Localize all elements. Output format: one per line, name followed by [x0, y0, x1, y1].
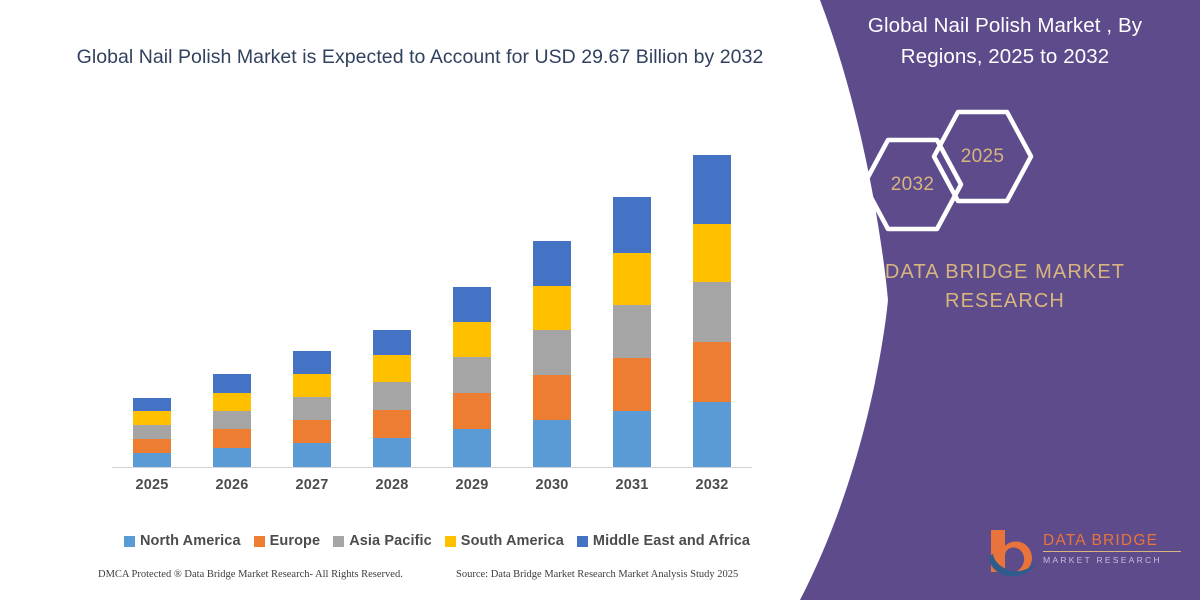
legend-swatch-icon: [124, 536, 135, 547]
x-axis-line: [112, 467, 752, 468]
panel-title: Global Nail Polish Market , By Regions, …: [840, 10, 1170, 72]
stacked-bar: [213, 374, 251, 467]
x-axis-label-2032: 2032: [672, 477, 752, 493]
legend-item-europe[interactable]: Europe: [254, 533, 321, 549]
bar-segment: [453, 429, 491, 467]
bar-segment: [213, 448, 251, 467]
bar-segment: [293, 443, 331, 467]
bar-segment: [213, 429, 251, 448]
bar-segment: [693, 402, 731, 467]
bar-group-2026: [192, 140, 272, 467]
legend-label: Europe: [270, 533, 321, 549]
stacked-bars: [112, 140, 752, 467]
logo-divider: [1043, 551, 1181, 552]
legend-swatch-icon: [577, 536, 588, 547]
bar-segment: [133, 425, 171, 439]
x-axis-label-2027: 2027: [272, 477, 352, 493]
bar-segment: [373, 410, 411, 438]
legend-item-south-america[interactable]: South America: [445, 533, 564, 549]
footer-copyright: DMCA Protected ® Data Bridge Market Rese…: [98, 569, 403, 580]
hexagon-2025-label: 2025: [930, 146, 1035, 168]
bar-segment: [693, 155, 731, 224]
bar-segment: [213, 374, 251, 393]
bar-segment: [533, 286, 571, 330]
x-axis-label-2030: 2030: [512, 477, 592, 493]
bar-segment: [133, 411, 171, 425]
bar-segment: [533, 420, 571, 467]
bar-group-2032: [672, 140, 752, 467]
bar-segment: [373, 330, 411, 355]
bar-segment: [453, 393, 491, 429]
legend-swatch-icon: [254, 536, 265, 547]
bar-segment: [133, 453, 171, 467]
x-axis-label-2031: 2031: [592, 477, 672, 493]
bar-segment: [533, 375, 571, 420]
bar-group-2025: [112, 140, 192, 467]
x-axis-label-2025: 2025: [112, 477, 192, 493]
bar-group-2031: [592, 140, 672, 467]
legend-swatch-icon: [445, 536, 456, 547]
legend-item-north-america[interactable]: North America: [124, 533, 241, 549]
legend-label: South America: [461, 533, 564, 549]
bar-group-2027: [272, 140, 352, 467]
x-axis-label-2028: 2028: [352, 477, 432, 493]
bar-segment: [133, 439, 171, 453]
bar-segment: [693, 224, 731, 282]
bar-group-2029: [432, 140, 512, 467]
chart-area: Global Nail Polish Market is Expected to…: [0, 0, 800, 600]
bar-segment: [453, 322, 491, 357]
infographic-canvas: Global Nail Polish Market is Expected to…: [0, 0, 1200, 600]
bar-segment: [613, 358, 651, 411]
data-bridge-logo: DATA BRIDGE MARKET RESEARCH: [985, 524, 1185, 580]
x-axis-label-2029: 2029: [432, 477, 512, 493]
bar-segment: [533, 241, 571, 286]
bar-segment: [613, 305, 651, 358]
bar-segment: [213, 393, 251, 411]
legend-item-asia-pacific[interactable]: Asia Pacific: [333, 533, 432, 549]
legend-label: North America: [140, 533, 241, 549]
bar-segment: [293, 374, 331, 397]
logo-text: DATA BRIDGE MARKET RESEARCH: [1043, 532, 1188, 565]
logo-title: DATA BRIDGE: [1043, 532, 1188, 549]
stacked-bar: [453, 287, 491, 467]
bar-group-2030: [512, 140, 592, 467]
hexagon-group: 2032 2025: [848, 108, 1168, 233]
logo-subtitle: MARKET RESEARCH: [1043, 555, 1188, 565]
chart-title: Global Nail Polish Market is Expected to…: [70, 42, 770, 73]
logo-mark-icon: [985, 526, 1041, 578]
bar-segment: [613, 411, 651, 467]
bar-segment: [453, 357, 491, 393]
stacked-bar: [533, 241, 571, 467]
x-axis-labels: 20252026202720282029203020312032: [112, 477, 752, 499]
stacked-bar: [293, 351, 331, 467]
bar-segment: [533, 330, 571, 375]
hexagon-2025: 2025: [930, 108, 1035, 210]
stacked-bar: [613, 197, 651, 467]
bar-segment: [293, 420, 331, 443]
bar-segment: [693, 282, 731, 342]
bar-group-2028: [352, 140, 432, 467]
legend-item-middle-east-and-africa[interactable]: Middle East and Africa: [577, 533, 750, 549]
footer: DMCA Protected ® Data Bridge Market Rese…: [98, 569, 778, 583]
bar-segment: [133, 398, 171, 411]
bar-segment: [453, 287, 491, 322]
bar-segment: [613, 197, 651, 253]
bar-segment: [373, 355, 411, 382]
bar-segment: [693, 342, 731, 402]
bar-segment: [373, 438, 411, 467]
legend-label: Middle East and Africa: [593, 533, 750, 549]
legend-swatch-icon: [333, 536, 344, 547]
x-axis-label-2026: 2026: [192, 477, 272, 493]
purple-panel-content: Global Nail Polish Market , By Regions, …: [800, 0, 1200, 600]
bar-segment: [293, 351, 331, 374]
brand-name: DATA BRIDGE MARKET RESEARCH: [830, 258, 1180, 316]
stacked-bar: [693, 155, 731, 467]
bar-segment: [373, 382, 411, 410]
bar-segment: [213, 411, 251, 429]
bar-segment: [613, 253, 651, 305]
stacked-bar: [133, 398, 171, 467]
chart-legend: North AmericaEuropeAsia PacificSouth Ame…: [112, 531, 762, 551]
footer-source: Source: Data Bridge Market Research Mark…: [456, 569, 738, 580]
legend-label: Asia Pacific: [349, 533, 432, 549]
bar-segment: [293, 397, 331, 420]
stacked-bar: [373, 330, 411, 467]
